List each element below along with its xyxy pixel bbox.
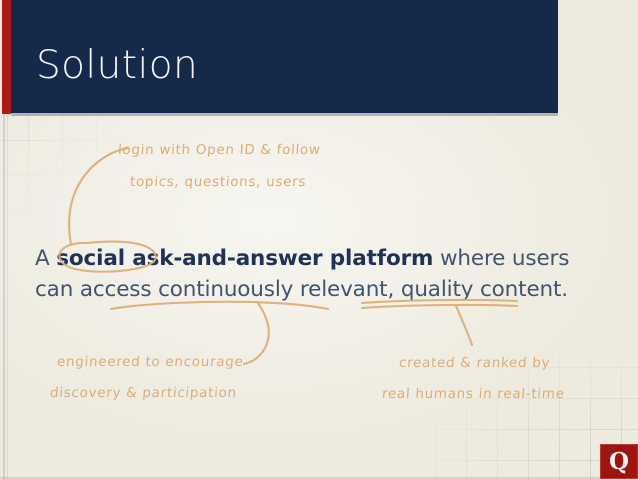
statement-highlight: social ask-and-answer platform bbox=[56, 246, 433, 271]
left-rule-line bbox=[3, 114, 5, 479]
annotation-top-line2: topics, questions, users bbox=[129, 170, 307, 194]
annotation-bottom-left-line1: engineered to encourage bbox=[56, 350, 244, 374]
badge-letter: Q bbox=[600, 447, 638, 474]
statement-lead: A bbox=[35, 246, 56, 271]
main-statement: A social ask-and-answer platform where u… bbox=[35, 243, 603, 305]
annotation-top-line1: login with Open ID & follow bbox=[117, 138, 321, 162]
left-rule-line-secondary bbox=[7, 114, 8, 479]
title-banner-shadow bbox=[11, 113, 558, 116]
slide-canvas: Solution A social ask-and-answer platfor… bbox=[0, 0, 638, 479]
annotation-bottom-left-line2: discovery & participation bbox=[49, 381, 237, 405]
quora-logo-badge: Q bbox=[600, 444, 638, 479]
page-title: Solution bbox=[36, 46, 198, 85]
annotation-bottom-right-line2: real humans in real-time bbox=[381, 382, 565, 406]
red-accent-bar bbox=[2, 0, 11, 114]
annotation-bottom-right-line1: created & ranked by bbox=[398, 351, 551, 375]
